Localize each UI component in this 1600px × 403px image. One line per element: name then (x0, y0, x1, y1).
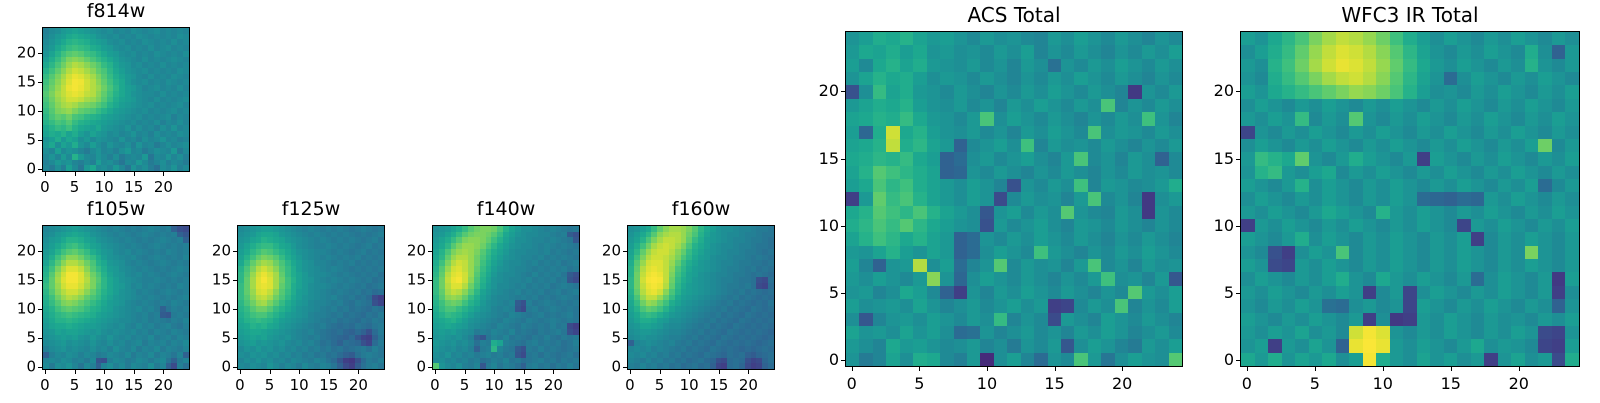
x-tick-f160w-20 (748, 370, 749, 374)
y-tick-label-f105w-10: 10 (0, 302, 36, 317)
x-tick-f125w-5 (270, 370, 271, 374)
figure-canvas: f814w0510152005101520f105w05101520051015… (0, 0, 1600, 400)
y-tick-label-f160w-20: 20 (581, 244, 621, 259)
x-tick-f105w-10 (104, 370, 105, 374)
x-tick-label-f140w-5: 5 (460, 378, 470, 393)
y-tick-f160w-10 (623, 309, 627, 310)
x-tick-f125w-0 (240, 370, 241, 374)
y-tick-label-f105w-5: 5 (0, 331, 36, 346)
x-tick-label-acs_total-0: 0 (847, 376, 857, 392)
y-tick-acs_total-10 (841, 226, 845, 227)
x-tick-label-f814w-5: 5 (70, 180, 80, 195)
x-tick-label-wfc3_ir_total-5: 5 (1310, 376, 1320, 392)
x-tick-label-f814w-20: 20 (154, 180, 173, 195)
panel-title-f160w: f160w (627, 200, 775, 219)
panel-title-f105w: f105w (42, 200, 190, 219)
y-tick-f105w-5 (38, 338, 42, 339)
x-tick-wfc3_ir_total-0 (1247, 367, 1248, 371)
x-tick-label-f105w-15: 15 (124, 378, 143, 393)
y-tick-label-f140w-10: 10 (386, 302, 426, 317)
y-tick-wfc3_ir_total-5 (1236, 293, 1240, 294)
y-tick-label-wfc3_ir_total-5: 5 (1194, 285, 1234, 301)
x-tick-f160w-0 (630, 370, 631, 374)
x-tick-wfc3_ir_total-10 (1383, 367, 1384, 371)
y-tick-label-acs_total-15: 15 (799, 151, 839, 167)
x-tick-label-f814w-10: 10 (95, 180, 114, 195)
x-tick-label-f814w-15: 15 (124, 180, 143, 195)
x-tick-f160w-15 (719, 370, 720, 374)
y-tick-label-f160w-0: 0 (581, 360, 621, 375)
heatmap-cells-f814w (43, 28, 189, 171)
panel-f160w: f160w0510152005101520 (585, 198, 775, 403)
x-tick-label-f125w-5: 5 (265, 378, 275, 393)
y-tick-f160w-20 (623, 251, 627, 252)
y-tick-f160w-15 (623, 280, 627, 281)
y-tick-f140w-10 (428, 309, 432, 310)
x-tick-f160w-5 (660, 370, 661, 374)
y-tick-wfc3_ir_total-0 (1236, 360, 1240, 361)
y-tick-label-wfc3_ir_total-20: 20 (1194, 83, 1234, 99)
y-tick-label-f814w-5: 5 (0, 133, 36, 148)
y-tick-label-wfc3_ir_total-15: 15 (1194, 151, 1234, 167)
y-tick-label-f105w-20: 20 (0, 244, 36, 259)
heatmap-axes-f140w (432, 225, 580, 370)
y-tick-label-f140w-20: 20 (386, 244, 426, 259)
x-tick-f105w-0 (45, 370, 46, 374)
y-tick-label-acs_total-0: 0 (799, 352, 839, 368)
x-tick-label-wfc3_ir_total-15: 15 (1441, 376, 1461, 392)
y-tick-acs_total-15 (841, 159, 845, 160)
heatmap-cells-wfc3_ir_total (1241, 32, 1579, 366)
y-tick-f140w-5 (428, 338, 432, 339)
heatmap-axes-f105w (42, 225, 190, 370)
y-tick-f125w-0 (233, 367, 237, 368)
x-tick-label-f125w-15: 15 (319, 378, 338, 393)
panel-acs_total: ACS Total0510152005101520 (803, 4, 1183, 400)
heatmap-cells-f125w (238, 226, 384, 369)
x-tick-label-acs_total-20: 20 (1112, 376, 1132, 392)
panel-title-f125w: f125w (237, 200, 385, 219)
x-tick-label-f814w-0: 0 (40, 180, 50, 195)
x-tick-f105w-15 (134, 370, 135, 374)
x-tick-label-f160w-5: 5 (655, 378, 665, 393)
y-tick-label-acs_total-5: 5 (799, 285, 839, 301)
x-tick-acs_total-5 (919, 367, 920, 371)
y-tick-label-f125w-20: 20 (191, 244, 231, 259)
x-tick-acs_total-15 (1055, 367, 1056, 371)
x-tick-f160w-10 (689, 370, 690, 374)
y-tick-label-acs_total-10: 10 (799, 218, 839, 234)
heatmap-axes-acs_total (845, 31, 1183, 367)
x-tick-f105w-20 (163, 370, 164, 374)
y-tick-label-f814w-15: 15 (0, 75, 36, 90)
panel-title-wfc3_ir_total: WFC3 IR Total (1240, 5, 1580, 25)
y-tick-f160w-0 (623, 367, 627, 368)
x-tick-acs_total-0 (852, 367, 853, 371)
panel-f125w: f125w0510152005101520 (195, 198, 385, 403)
x-tick-label-f140w-10: 10 (485, 378, 504, 393)
panel-wfc3_ir_total: WFC3 IR Total0510152005101520 (1198, 4, 1580, 400)
x-tick-wfc3_ir_total-5 (1315, 367, 1316, 371)
y-tick-label-f105w-0: 0 (0, 360, 36, 375)
y-tick-f140w-20 (428, 251, 432, 252)
heatmap-cells-f160w (628, 226, 774, 369)
x-tick-label-wfc3_ir_total-20: 20 (1509, 376, 1529, 392)
x-tick-label-f105w-5: 5 (70, 378, 80, 393)
x-tick-label-f160w-0: 0 (625, 378, 635, 393)
x-tick-f814w-10 (104, 172, 105, 176)
x-tick-label-f125w-10: 10 (290, 378, 309, 393)
x-tick-f140w-5 (465, 370, 466, 374)
heatmap-cells-f105w (43, 226, 189, 369)
y-tick-f814w-5 (38, 140, 42, 141)
x-tick-acs_total-10 (987, 367, 988, 371)
y-tick-f125w-5 (233, 338, 237, 339)
y-tick-f125w-10 (233, 309, 237, 310)
x-tick-acs_total-20 (1122, 367, 1123, 371)
x-tick-label-f160w-15: 15 (709, 378, 728, 393)
x-tick-f140w-20 (553, 370, 554, 374)
panel-f814w: f814w0510152005101520 (0, 0, 190, 205)
x-tick-f814w-5 (75, 172, 76, 176)
y-tick-label-f814w-20: 20 (0, 46, 36, 61)
y-tick-label-f814w-0: 0 (0, 162, 36, 177)
x-tick-wfc3_ir_total-15 (1451, 367, 1452, 371)
y-tick-label-f125w-5: 5 (191, 331, 231, 346)
y-tick-label-f105w-15: 15 (0, 273, 36, 288)
panel-title-acs_total: ACS Total (845, 5, 1183, 25)
x-tick-f140w-15 (524, 370, 525, 374)
heatmap-axes-f125w (237, 225, 385, 370)
x-tick-f105w-5 (75, 370, 76, 374)
y-tick-label-f814w-10: 10 (0, 104, 36, 119)
x-tick-f125w-15 (329, 370, 330, 374)
x-tick-label-f160w-10: 10 (680, 378, 699, 393)
y-tick-label-f140w-0: 0 (386, 360, 426, 375)
x-tick-label-acs_total-10: 10 (977, 376, 997, 392)
panel-f140w: f140w0510152005101520 (390, 198, 580, 403)
y-tick-f105w-0 (38, 367, 42, 368)
y-tick-label-f160w-5: 5 (581, 331, 621, 346)
x-tick-f814w-0 (45, 172, 46, 176)
x-tick-f125w-10 (299, 370, 300, 374)
heatmap-cells-f140w (433, 226, 579, 369)
x-tick-label-f125w-0: 0 (235, 378, 245, 393)
y-tick-f140w-15 (428, 280, 432, 281)
y-tick-wfc3_ir_total-15 (1236, 159, 1240, 160)
y-tick-acs_total-5 (841, 293, 845, 294)
x-tick-label-wfc3_ir_total-10: 10 (1373, 376, 1393, 392)
x-tick-f125w-20 (358, 370, 359, 374)
y-tick-wfc3_ir_total-20 (1236, 91, 1240, 92)
panel-title-f814w: f814w (42, 2, 190, 21)
y-tick-label-f140w-5: 5 (386, 331, 426, 346)
x-tick-wfc3_ir_total-20 (1519, 367, 1520, 371)
x-tick-label-wfc3_ir_total-0: 0 (1242, 376, 1252, 392)
panel-f105w: f105w0510152005101520 (0, 198, 190, 403)
x-tick-label-f140w-0: 0 (430, 378, 440, 393)
heatmap-cells-acs_total (846, 32, 1182, 366)
x-tick-f140w-10 (494, 370, 495, 374)
heatmap-axes-f814w (42, 27, 190, 172)
y-tick-label-acs_total-20: 20 (799, 83, 839, 99)
x-tick-label-f105w-0: 0 (40, 378, 50, 393)
y-tick-label-f125w-0: 0 (191, 360, 231, 375)
x-tick-label-f140w-20: 20 (544, 378, 563, 393)
y-tick-f814w-20 (38, 53, 42, 54)
y-tick-label-f140w-15: 15 (386, 273, 426, 288)
y-tick-f105w-10 (38, 309, 42, 310)
y-tick-wfc3_ir_total-10 (1236, 226, 1240, 227)
y-tick-f814w-10 (38, 111, 42, 112)
y-tick-f125w-15 (233, 280, 237, 281)
y-tick-f105w-20 (38, 251, 42, 252)
y-tick-label-f160w-10: 10 (581, 302, 621, 317)
x-tick-label-acs_total-15: 15 (1044, 376, 1064, 392)
x-tick-f140w-0 (435, 370, 436, 374)
y-tick-label-f125w-10: 10 (191, 302, 231, 317)
x-tick-label-acs_total-5: 5 (914, 376, 924, 392)
x-tick-label-f160w-20: 20 (739, 378, 758, 393)
x-tick-label-f105w-20: 20 (154, 378, 173, 393)
y-tick-label-wfc3_ir_total-0: 0 (1194, 352, 1234, 368)
y-tick-f814w-0 (38, 169, 42, 170)
y-tick-label-wfc3_ir_total-10: 10 (1194, 218, 1234, 234)
y-tick-acs_total-20 (841, 91, 845, 92)
y-tick-f814w-15 (38, 82, 42, 83)
x-tick-label-f125w-20: 20 (349, 378, 368, 393)
y-tick-acs_total-0 (841, 360, 845, 361)
x-tick-f814w-20 (163, 172, 164, 176)
x-tick-label-f105w-10: 10 (95, 378, 114, 393)
heatmap-axes-wfc3_ir_total (1240, 31, 1580, 367)
x-tick-label-f140w-15: 15 (514, 378, 533, 393)
y-tick-f105w-15 (38, 280, 42, 281)
panel-title-f140w: f140w (432, 200, 580, 219)
heatmap-axes-f160w (627, 225, 775, 370)
y-tick-f160w-5 (623, 338, 627, 339)
y-tick-label-f125w-15: 15 (191, 273, 231, 288)
x-tick-f814w-15 (134, 172, 135, 176)
y-tick-f125w-20 (233, 251, 237, 252)
y-tick-f140w-0 (428, 367, 432, 368)
y-tick-label-f160w-15: 15 (581, 273, 621, 288)
